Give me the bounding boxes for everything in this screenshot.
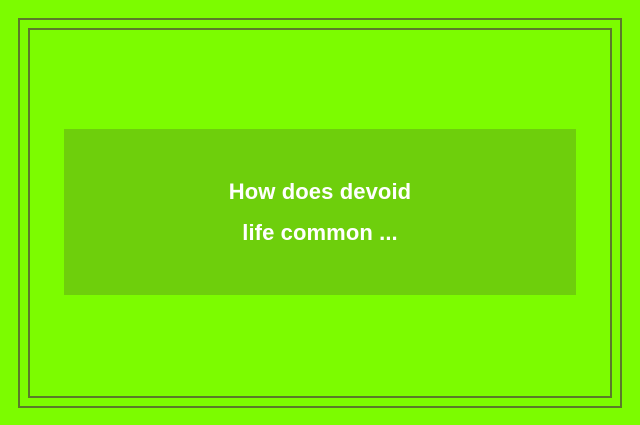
quote-card: How does devoid life common ... bbox=[64, 129, 576, 295]
quote-line-2: life common ... bbox=[242, 222, 398, 244]
poster-canvas: How does devoid life common ... bbox=[0, 0, 640, 425]
quote-line-1: How does devoid bbox=[229, 181, 411, 203]
